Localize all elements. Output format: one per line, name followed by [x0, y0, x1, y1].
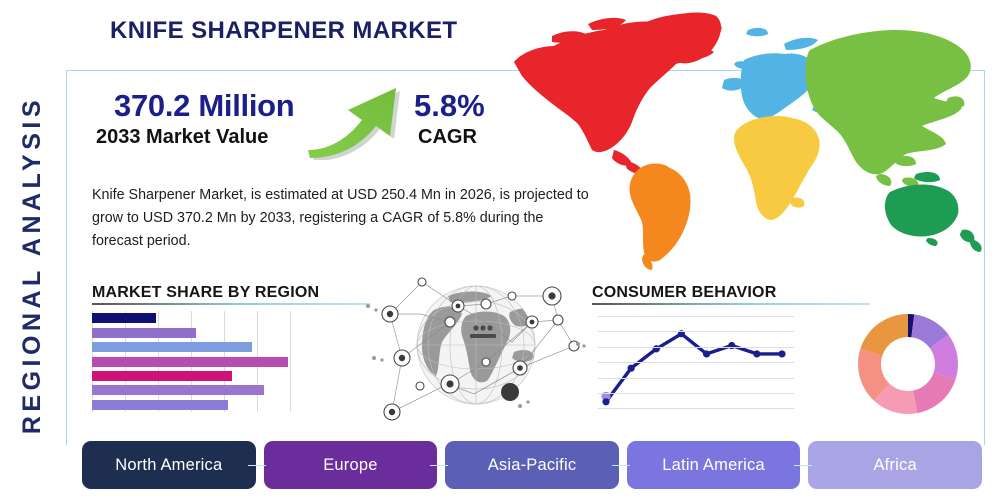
growth-arrow-icon: [304, 80, 414, 160]
line-chart-gridline: [598, 347, 794, 348]
region-button-latin-america[interactable]: Latin America: [627, 441, 801, 489]
map-region-south-america: [629, 164, 690, 271]
region-button-north-america[interactable]: North America: [82, 441, 256, 489]
region-button-label: Europe: [323, 456, 377, 475]
donut-chart: [852, 308, 964, 420]
page-title: KNIFE SHARPENER MARKET: [110, 17, 457, 45]
map-region-africa: [734, 116, 820, 220]
global-network-globe-icon: [362, 266, 590, 424]
region-button-label: Latin America: [662, 456, 765, 475]
region-button-africa[interactable]: Africa: [808, 441, 982, 489]
market-share-bar-chart: [92, 311, 292, 412]
side-label: REGIONAL ANALYSIS: [10, 70, 54, 460]
cagr-caption: CAGR: [418, 126, 477, 149]
market-value-caption: 2033 Market Value: [96, 126, 268, 149]
bar-chart-bar: [92, 342, 252, 352]
consumer-behavior-title-rule: [592, 303, 870, 305]
map-region-asia: [805, 30, 970, 187]
infographic-root: REGIONAL ANALYSIS KNIFE SHARPENER MARKET…: [0, 0, 1000, 500]
map-region-australia: [885, 172, 982, 252]
region-button-label: Africa: [873, 456, 916, 475]
world-map-svg: [492, 2, 1000, 274]
cagr-value: 5.8%: [414, 88, 485, 124]
market-share-title-rule: [92, 303, 370, 305]
region-button-label: Asia-Pacific: [488, 456, 577, 475]
bar-chart-bar: [92, 313, 156, 323]
region-button-bar: North AmericaEuropeAsia-PacificLatin Ame…: [82, 441, 982, 489]
bar-chart-bar: [92, 385, 264, 395]
market-value: 370.2 Million: [114, 88, 294, 124]
line-chart-gridline: [598, 316, 794, 317]
world-map: [492, 2, 1000, 274]
side-label-text: REGIONAL ANALYSIS: [18, 96, 47, 434]
line-chart-gridline: [598, 362, 794, 363]
line-chart-gridline: [598, 378, 794, 379]
donut-segment: [860, 314, 908, 356]
bar-chart-bar: [92, 357, 288, 367]
consumer-behavior-section-title: CONSUMER BEHAVIOR: [592, 284, 776, 302]
kpi-row: 370.2 Million 2033 Market Value 5.8% CAG…: [96, 88, 516, 168]
line-chart-gridline: [598, 331, 794, 332]
donut-segment: [913, 372, 955, 413]
region-button-asia-pacific[interactable]: Asia-Pacific: [445, 441, 619, 489]
bar-chart-bar: [92, 371, 232, 381]
region-connector-1: [248, 465, 266, 466]
line-chart-gridline: [598, 393, 794, 394]
bar-chart-bar: [92, 328, 196, 338]
region-connector-2: [430, 465, 448, 466]
region-connector-3: [612, 465, 630, 466]
region-connector-4: [794, 465, 812, 466]
market-share-section-title: MARKET SHARE BY REGION: [92, 284, 319, 302]
region-button-label: North America: [115, 456, 222, 475]
region-button-europe[interactable]: Europe: [264, 441, 438, 489]
line-chart-gridlines: [598, 312, 794, 412]
bar-chart-bar: [92, 400, 228, 410]
line-chart-gridline: [598, 408, 794, 409]
consumer-behavior-line-chart: [598, 312, 794, 412]
